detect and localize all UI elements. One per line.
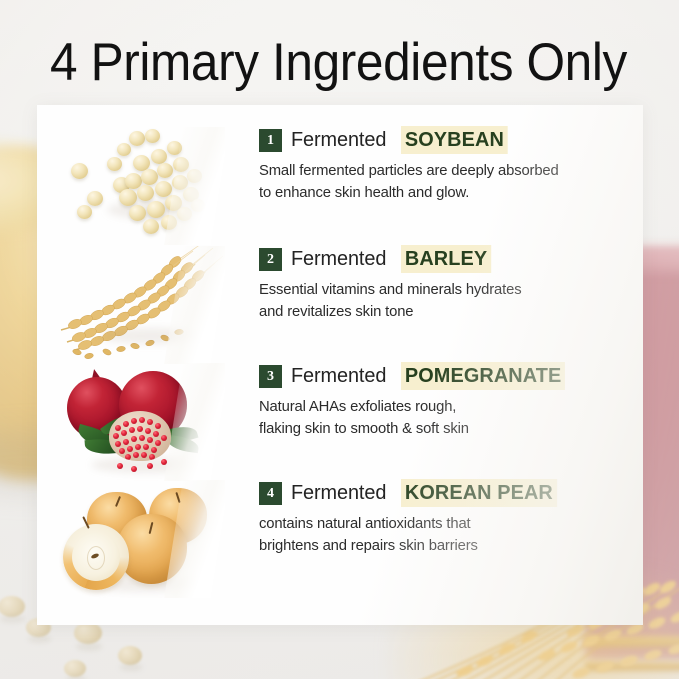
description-line: flaking skin to smooth & soft skin	[259, 418, 630, 440]
ingredient-text-korean-pear: 4 Fermented KOREAN PEAR contains natural…	[259, 480, 639, 558]
ingredient-name: SOYBEAN	[401, 126, 508, 154]
ingredient-row-barley: 2 Fermented BARLEY Essential vitamins an…	[37, 246, 643, 364]
ingredient-row-pomegranate: 3 Fermented POMEGRANATE Natural AHAs exf…	[37, 363, 643, 481]
ingredient-text-soybean: 1 Fermented SOYBEAN Small fermented part…	[259, 127, 639, 205]
ingredient-name: KOREAN PEAR	[401, 479, 557, 507]
ingredient-prefix: Fermented	[291, 247, 386, 271]
soybeans-photo	[55, 127, 225, 245]
ingredient-name: POMEGRANATE	[401, 362, 565, 390]
ingredient-row-korean-pear: 4 Fermented KOREAN PEAR contains natural…	[37, 480, 643, 598]
description-line: Small fermented particles are deeply abs…	[259, 160, 630, 182]
barley-stalks-photo	[55, 246, 225, 364]
ingredient-number-badge: 3	[259, 365, 282, 388]
pomegranate-photo	[55, 363, 225, 481]
infographic-stage: 4 Primary Ingredients Only	[0, 0, 679, 679]
ingredient-row-soybean: 1 Fermented SOYBEAN Small fermented part…	[37, 127, 643, 245]
ingredient-prefix: Fermented	[291, 128, 386, 152]
ingredient-description: Essential vitamins and minerals hydrates…	[259, 279, 630, 324]
description-line: contains natural antioxidants that	[259, 513, 630, 535]
ingredient-headline: 2 Fermented BARLEY	[259, 246, 639, 272]
ingredient-text-barley: 2 Fermented BARLEY Essential vitamins an…	[259, 246, 639, 324]
description-line: Essential vitamins and minerals hydrates	[259, 279, 630, 301]
ingredient-headline: 1 Fermented SOYBEAN	[259, 127, 639, 153]
ingredients-card: 1 Fermented SOYBEAN Small fermented part…	[37, 105, 643, 625]
description-line: to enhance skin health and glow.	[259, 182, 630, 204]
ingredient-prefix: Fermented	[291, 364, 386, 388]
ingredient-number-badge: 1	[259, 129, 282, 152]
ingredient-headline: 4 Fermented KOREAN PEAR	[259, 480, 639, 506]
ingredient-name: BARLEY	[401, 245, 491, 273]
ingredient-description: Natural AHAs exfoliates rough, flaking s…	[259, 396, 630, 441]
page-title: 4 Primary Ingredients Only	[50, 36, 611, 90]
ingredient-number-badge: 2	[259, 248, 282, 271]
ingredient-prefix: Fermented	[291, 481, 386, 505]
korean-pear-photo	[55, 480, 225, 598]
barley-illustration	[55, 246, 225, 364]
ingredient-description: contains natural antioxidants that brigh…	[259, 513, 630, 558]
ingredient-description: Small fermented particles are deeply abs…	[259, 160, 630, 205]
description-line: brightens and repairs skin barriers	[259, 535, 630, 557]
description-line: Natural AHAs exfoliates rough,	[259, 396, 630, 418]
description-line: and revitalizes skin tone	[259, 301, 630, 323]
ingredient-text-pomegranate: 3 Fermented POMEGRANATE Natural AHAs exf…	[259, 363, 639, 441]
ingredient-number-badge: 4	[259, 482, 282, 505]
ingredient-headline: 3 Fermented POMEGRANATE	[259, 363, 639, 389]
